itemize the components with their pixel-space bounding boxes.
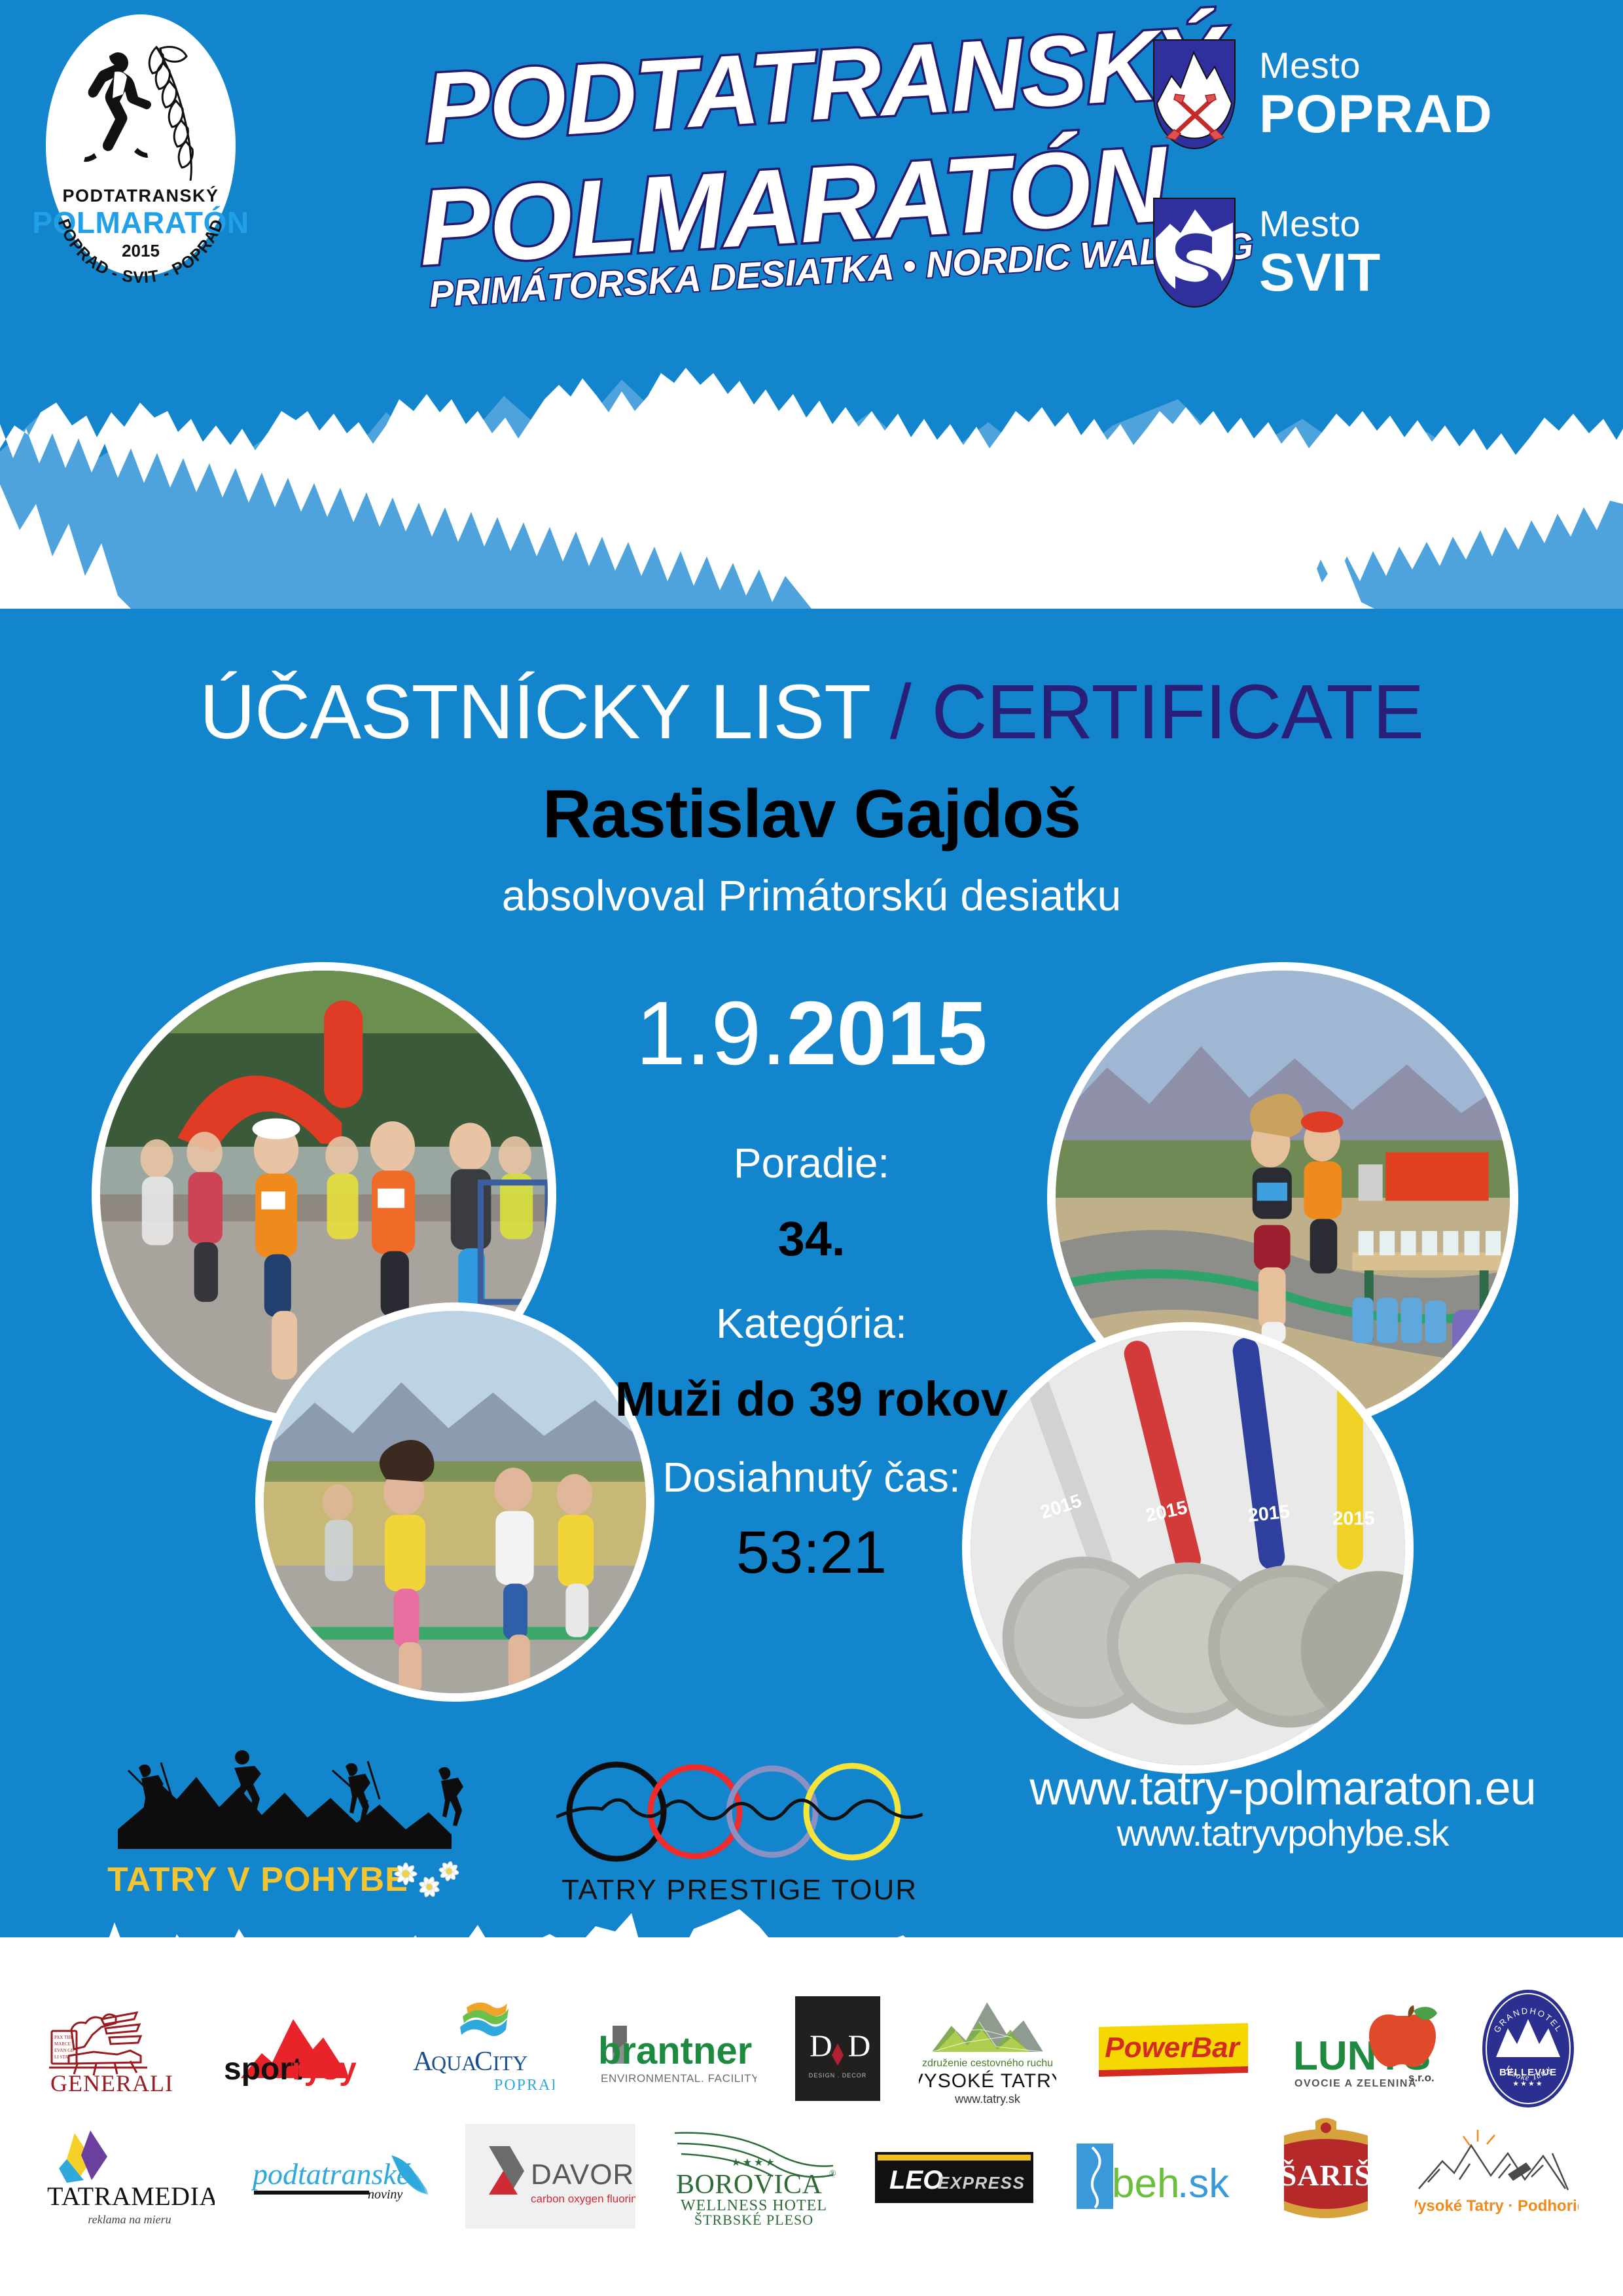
brantner-logo: brantner ENVIRONMENTAL. FACILITY SERVICE…	[593, 2006, 757, 2091]
generali-logo: PAX TIBIMARCEEVAN GELI STA GENERALI	[45, 2000, 183, 2098]
svg-text:DAVORIN: DAVORIN	[531, 2159, 635, 2191]
svg-text:OVOCIE A ZELENINA: OVOCIE A ZELENINA	[1294, 2078, 1417, 2089]
svg-text:sport: sport	[224, 2052, 302, 2087]
city-prefix: Mesto	[1259, 47, 1493, 84]
event-title-block: PODTATRANSKÝ POLMARATÓN PRIMÁTORSKA DESI…	[419, 34, 1113, 322]
svg-text:brantner: brantner	[598, 2030, 752, 2072]
snow-edge-graphic	[0, 1895, 1623, 1993]
laurel-branch-icon	[145, 43, 213, 184]
svg-text:PAX TIBI: PAX TIBI	[54, 2035, 73, 2040]
saris-logo: ŠARIŠ	[1274, 2117, 1378, 2235]
grandhotel-bellevue-logo: GRANDHOTEL BELLEVUE ★★★★ Vysoké Tatry	[1479, 1986, 1577, 2111]
certificate-subtitle: absolvoval Primátorskú desiatku	[0, 870, 1623, 920]
tatry-v-pohybe-logo: TATRY V POHYBE	[98, 1744, 465, 1908]
svg-text:EVAN GE: EVAN GE	[54, 2048, 74, 2053]
svg-text:LI STA: LI STA	[54, 2054, 68, 2060]
url-secondary[interactable]: www.tatryvpohybe.sk	[955, 1814, 1610, 1852]
svg-text:TATRAMEDIA: TATRAMEDIA	[47, 2181, 215, 2211]
sportrysy-logo: sport rysy	[221, 2000, 372, 2098]
svg-text:www.tatry.sk: www.tatry.sk	[954, 2092, 1021, 2106]
svit-crest-icon	[1152, 196, 1237, 309]
tatramedia-logo: TATRAMEDIA reklama na mieru	[45, 2124, 215, 2229]
event-logo-badge: PODTATRANSKÝ POLMARATÓN 2015 POPRAD - SV…	[46, 14, 236, 276]
borovica-logo: ★★★★ BOROVICA ® WELLNESS HOTEL ŠTRBSKÉ P…	[672, 2124, 836, 2229]
svg-text:.sk: .sk	[1177, 2161, 1230, 2206]
date-prefix: 1.9.	[635, 983, 786, 1084]
city-svit: Mesto SVIT	[1152, 196, 1381, 309]
sponsor-row-1: PAX TIBIMARCEEVAN GELI STA GENERALI spor…	[0, 1983, 1623, 2114]
svg-text:D D: D D	[810, 2029, 874, 2064]
aquacity-logo: A QUA C ITY POPRAD	[410, 2000, 554, 2098]
heading-slovak: ÚČASTNÍCKY LIST	[200, 669, 869, 755]
svg-text:ŠTRBSKÉ PLESO: ŠTRBSKÉ PLESO	[694, 2212, 813, 2228]
svg-text:GENERALI: GENERALI	[50, 2070, 173, 2096]
city-name: SVIT	[1259, 246, 1381, 300]
result-value-category: Muži do 39 rokov	[563, 1371, 1060, 1427]
svg-text:ŠARIŠ: ŠARIŠ	[1279, 2159, 1372, 2192]
heading-separator: /	[869, 669, 931, 755]
svg-text:VYSOKÉ TATRY: VYSOKÉ TATRY	[919, 2070, 1056, 2092]
svg-text:LEO: LEO	[889, 2166, 943, 2195]
dd-design-decor-logo: D D DESIGN . DECOR	[795, 1996, 880, 2101]
poprad-crest-icon	[1152, 38, 1237, 151]
podtatranske-noviny-logo: podtatranské noviny	[251, 2137, 428, 2215]
result-value-time: 53:21	[563, 1518, 1060, 1587]
svg-text:carbon oxygen fluorine: carbon oxygen fluorine	[531, 2193, 635, 2205]
participant-name: Rastislav Gajdoš	[0, 776, 1623, 853]
vysoke-tatry-podhorie-logo: Vysoké Tatry · Podhorie	[1415, 2127, 1578, 2225]
davorin-logo: DAVORIN carbon oxygen fluorine	[465, 2124, 635, 2229]
svg-text:podtatranské: podtatranské	[251, 2157, 412, 2191]
svg-text:PowerBar: PowerBar	[1105, 2032, 1241, 2064]
result-value-rank: 34.	[563, 1211, 1060, 1266]
svg-text:ITY: ITY	[493, 2051, 527, 2075]
svg-text:POPRAD - SVIT - POPRAD: POPRAD - SVIT - POPRAD	[54, 217, 227, 287]
sponsor-row-2: TATRAMEDIA reklama na mieru podtatranské…	[0, 2114, 1623, 2238]
svg-text:TATRY V POHYBE: TATRY V POHYBE	[107, 1861, 408, 1899]
result-label-category: Kategória:	[563, 1299, 1060, 1348]
date-year: 2015	[787, 983, 988, 1084]
svg-text:EXPRESS: EXPRESS	[938, 2173, 1025, 2193]
mountain-band-graphic	[0, 334, 1623, 609]
svg-text:A: A	[413, 2047, 433, 2077]
badge-arc-text: POPRAD - SVIT - POPRAD	[46, 190, 236, 275]
svg-text:reklama na mieru: reklama na mieru	[88, 2213, 171, 2226]
svg-text:noviny: noviny	[368, 2187, 402, 2202]
svg-text:BOROVICA: BOROVICA	[676, 2170, 823, 2200]
tatry-prestige-tour-logo: TATRY PRESTIGE TOUR	[556, 1754, 923, 1911]
svg-text:QUA: QUA	[431, 2051, 476, 2075]
leo-express-logo: LEO EXPRESS	[872, 2140, 1036, 2212]
svg-text:2015: 2015	[1332, 1509, 1374, 1530]
svg-text:s.r.o.: s.r.o.	[1408, 2072, 1435, 2084]
svg-text:rysy: rysy	[292, 2052, 357, 2087]
svg-text:Vysoké Tatry · Podhorie: Vysoké Tatry · Podhorie	[1415, 2197, 1578, 2215]
result-label-time: Dosiahnutý čas:	[563, 1453, 1060, 1501]
result-label-rank: Poradie:	[563, 1139, 1060, 1187]
lunys-logo: LUNYS OVOCIE A ZELENINA s.r.o.	[1291, 1996, 1441, 2101]
svg-text:združenie cestovného ruchu: združenie cestovného ruchu	[922, 2058, 1053, 2069]
certificate-page: PODTATRANSKÝ POLMARATÓN 2015 POPRAD - SV…	[0, 0, 1623, 2296]
svg-text:C: C	[474, 2047, 493, 2077]
city-name: POPRAD	[1259, 88, 1493, 141]
city-prefix: Mesto	[1259, 206, 1381, 242]
svg-text:2015: 2015	[1247, 1501, 1291, 1527]
heading-english: CERTIFICATE	[931, 669, 1423, 755]
behsk-logo: beh .sk	[1073, 2137, 1236, 2215]
website-urls: www.tatry-polmaraton.eu www.tatryvpohybe…	[955, 1764, 1610, 1853]
svg-text:POPRAD: POPRAD	[494, 2077, 554, 2094]
photo-runners-field	[255, 1302, 654, 1702]
svg-text:MARCE: MARCE	[54, 2041, 71, 2047]
vysoke-tatry-logo: združenie cestovného ruchu VYSOKÉ TATRY …	[919, 1992, 1056, 2106]
svg-text:ENVIRONMENTAL. FACILITY SERVIC: ENVIRONMENTAL. FACILITY SERVICES	[601, 2072, 757, 2085]
url-primary[interactable]: www.tatry-polmaraton.eu	[955, 1764, 1610, 1814]
certificate-heading: ÚČASTNÍCKY LIST / CERTIFICATE	[0, 668, 1623, 757]
runner-silhouette-icon	[77, 48, 156, 173]
event-date: 1.9.2015	[563, 988, 1060, 1079]
svg-text:beh: beh	[1112, 2161, 1179, 2206]
svg-text:DESIGN . DECOR: DESIGN . DECOR	[809, 2072, 867, 2079]
svg-text:★★★★: ★★★★	[731, 2157, 776, 2168]
city-poprad: Mesto POPRAD	[1152, 38, 1493, 151]
powerbar-logo: PowerBar	[1095, 2013, 1252, 2085]
svg-text:®: ®	[829, 2169, 836, 2179]
sponsors-section: PAX TIBIMARCEEVAN GELI STA GENERALI spor…	[0, 1983, 1623, 2238]
